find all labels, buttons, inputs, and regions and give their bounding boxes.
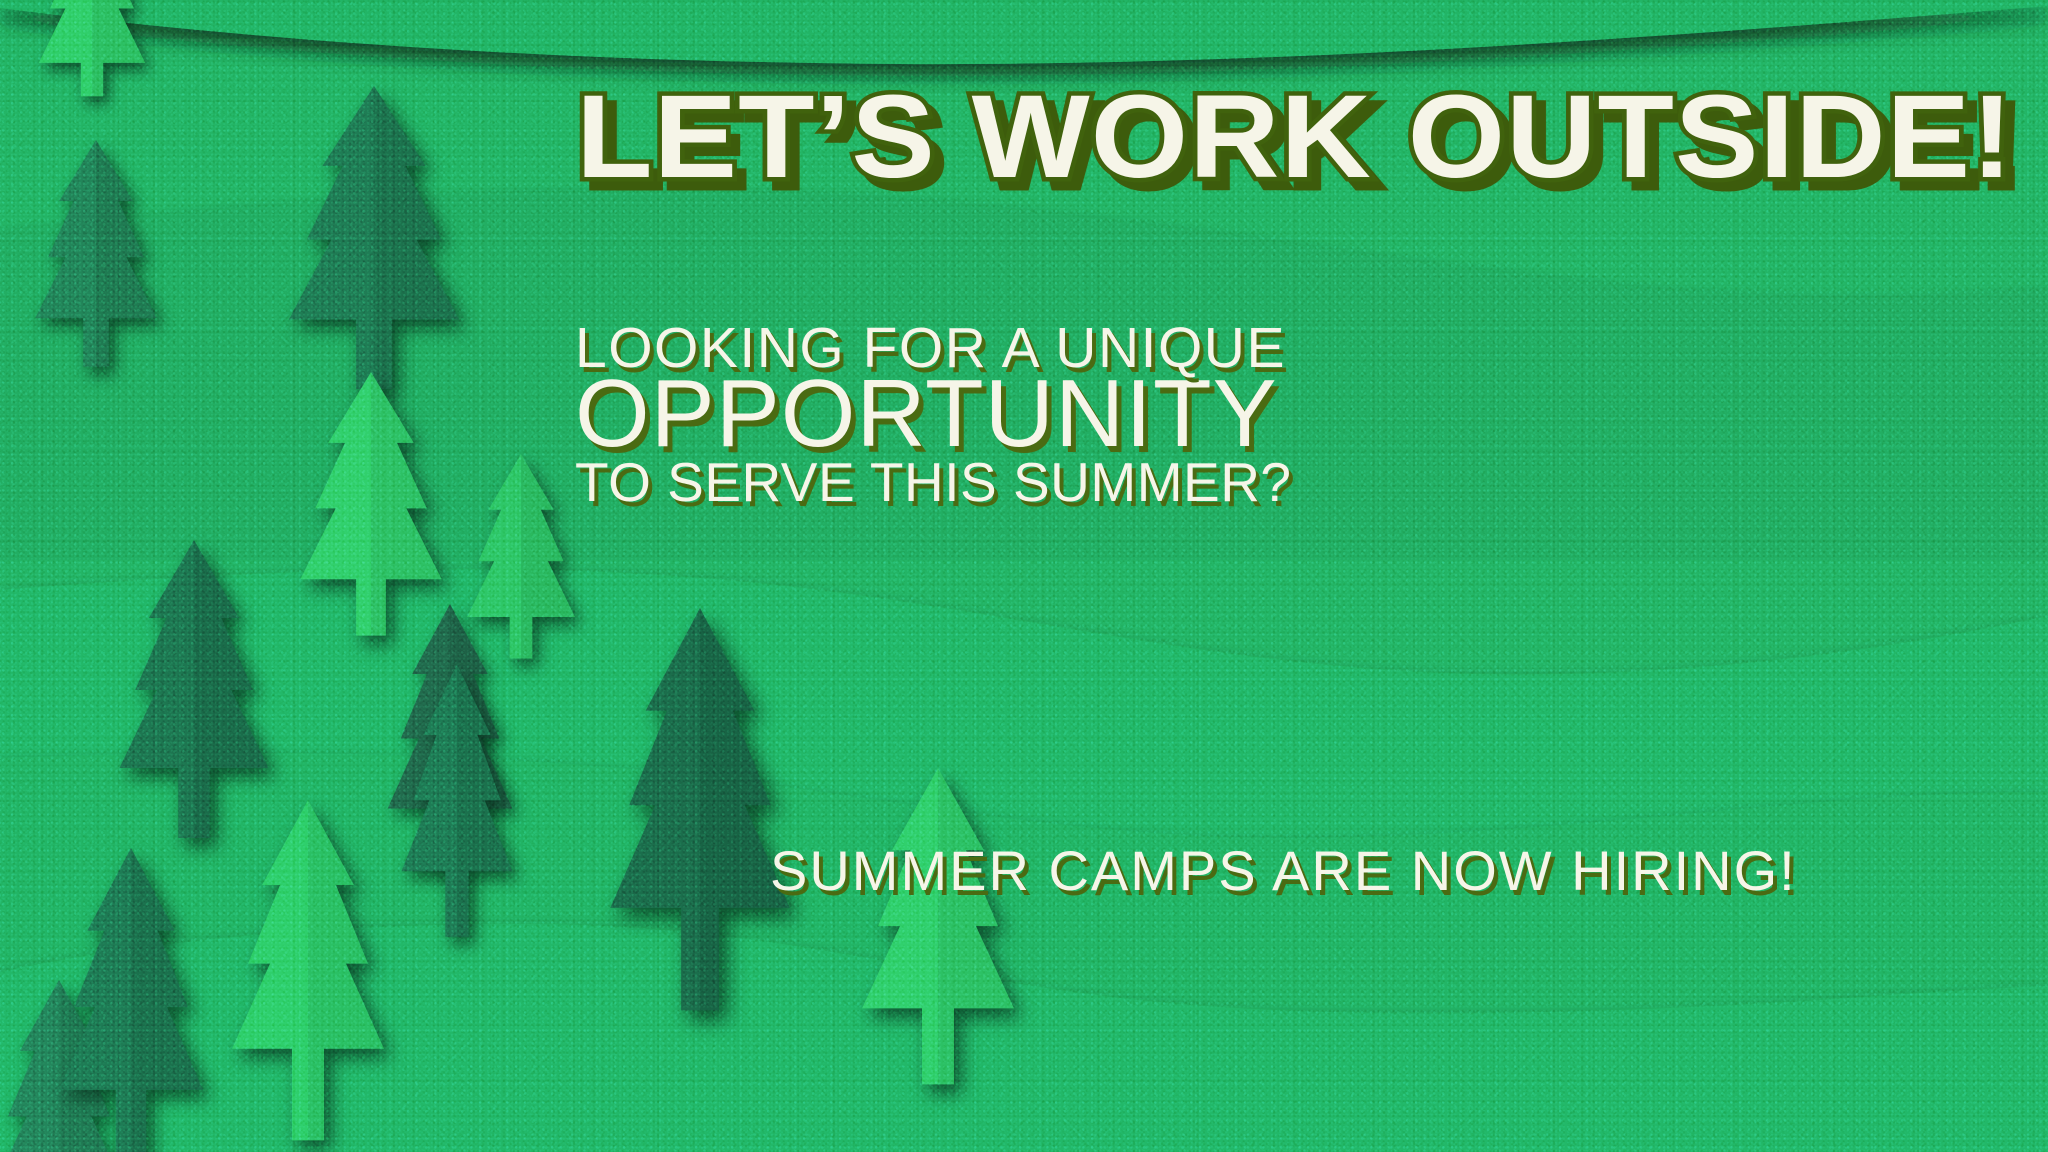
subheadline-line-3: TO SERVE THIS SUMMER? — [575, 457, 1575, 508]
subheadline-line-2: OPPORTUNITY — [575, 370, 1575, 458]
pine-tree-icon — [208, 800, 408, 1152]
pine-tree-icon — [36, 848, 226, 1152]
poster-canvas: LET’S WORK OUTSIDE! LOOKING FOR A UNIQUE… — [0, 0, 2048, 1152]
subheadline-block: LOOKING FOR A UNIQUE OPPORTUNITY TO SERV… — [575, 322, 1575, 507]
pine-tree-icon — [278, 372, 464, 672]
pine-tree-icon — [838, 768, 1038, 1116]
pine-tree-icon — [450, 454, 592, 690]
pine-tree-icon — [16, 140, 176, 398]
tagline: SUMMER CAMPS ARE NOW HIRING! — [770, 838, 1797, 903]
subheadline-line-1: LOOKING FOR A UNIQUE — [575, 322, 1575, 374]
pine-tree-icon — [22, 0, 162, 134]
page-title: LET’S WORK OUTSIDE! — [516, 78, 2048, 196]
pine-tree-icon — [582, 608, 818, 1042]
